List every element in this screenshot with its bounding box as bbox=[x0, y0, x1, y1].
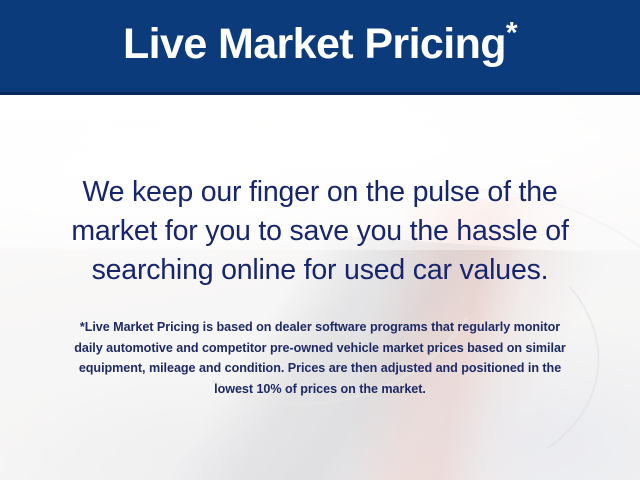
headline-line-3: searching online for used car values. bbox=[20, 251, 620, 290]
disclaimer-line-4: lowest 10% of prices on the market. bbox=[20, 379, 620, 400]
headline-line-2: market for you to save you the hassle of bbox=[20, 212, 620, 251]
header-bar: Live Market Pricing* bbox=[0, 0, 640, 95]
page-title-text: Live Market Pricing bbox=[123, 20, 506, 68]
headline-line-1: We keep our finger on the pulse of the bbox=[20, 173, 620, 212]
disclaimer-block: *Live Market Pricing is based on dealer … bbox=[20, 317, 620, 399]
headline-block: We keep our finger on the pulse of the m… bbox=[20, 173, 620, 290]
disclaimer-line-3: equipment, mileage and condition. Prices… bbox=[20, 358, 620, 379]
content-area: We keep our finger on the pulse of the m… bbox=[0, 95, 640, 480]
disclaimer-line-2: daily automotive and competitor pre-owne… bbox=[20, 338, 620, 359]
page-title-asterisk: * bbox=[506, 17, 517, 50]
disclaimer-line-1: *Live Market Pricing is based on dealer … bbox=[20, 317, 620, 338]
live-market-pricing-banner: Live Market Pricing* We keep our finger … bbox=[0, 0, 640, 480]
page-title: Live Market Pricing* bbox=[123, 23, 517, 69]
